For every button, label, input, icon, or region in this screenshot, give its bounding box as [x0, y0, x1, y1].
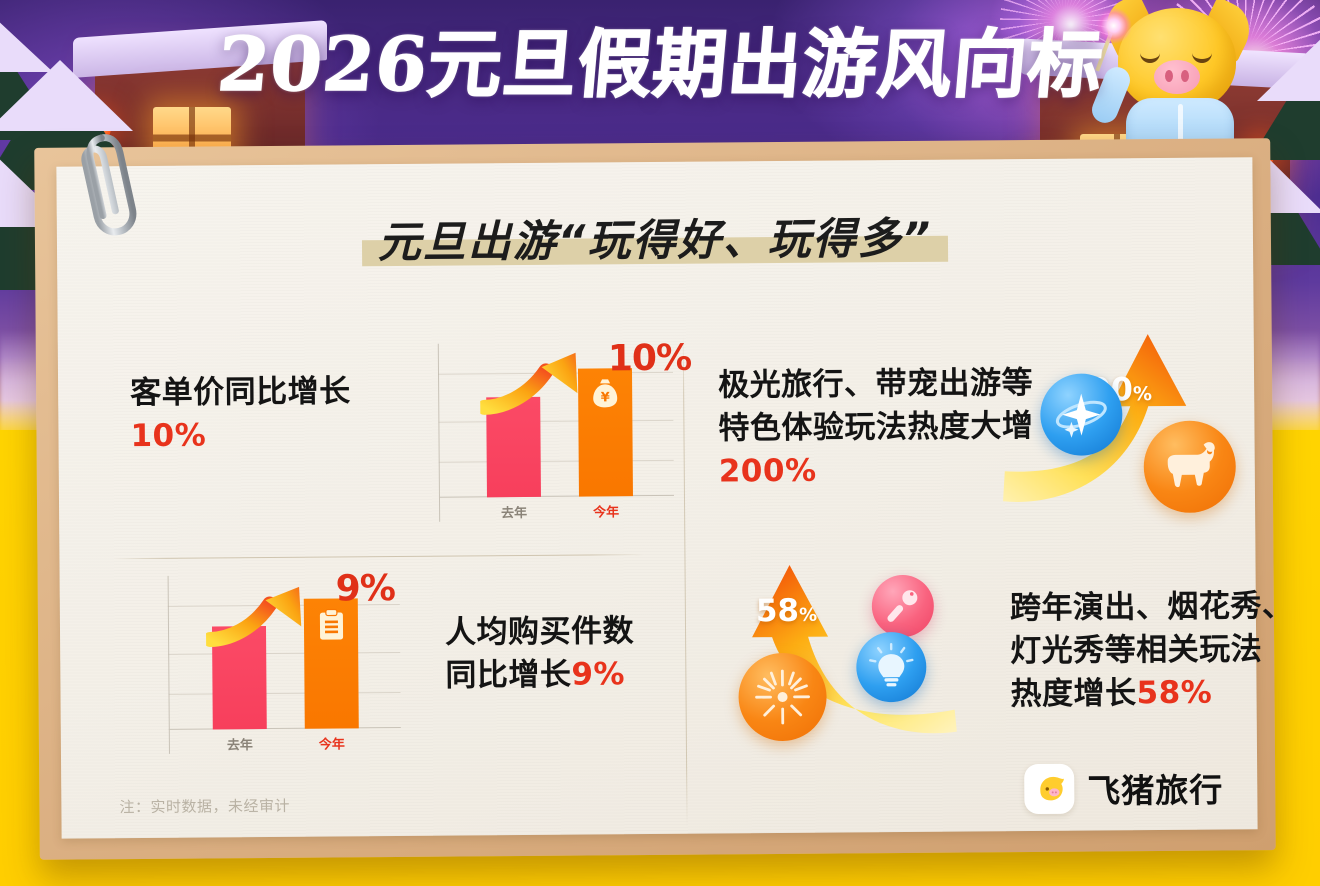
growth-arrow-icon	[480, 348, 601, 415]
microphone-bubble	[872, 575, 934, 637]
firework-bubble	[738, 653, 827, 742]
q3-text-line2: 同比增长9%	[445, 652, 705, 697]
chart-gridline	[168, 652, 400, 655]
q3-percentage-label: 9%	[336, 568, 395, 609]
brand-name: 飞猪旅行	[1087, 764, 1223, 813]
stat-block-special-experiences: 极光旅行、带宠出游等 特色体验玩法热度大增 200%	[708, 332, 1255, 546]
microphone-icon	[872, 575, 934, 637]
card-subtitle: 元旦出游“玩得好、玩得多”	[57, 201, 1253, 272]
brand-logo: 飞猪旅行	[1024, 763, 1223, 815]
lightbulb-bubble	[856, 632, 927, 703]
bar-label-last-year: 去年	[213, 734, 267, 753]
q4-text-line3: 热度增长58%	[1010, 670, 1300, 715]
dog-icon	[1143, 420, 1236, 513]
pig-snout-icon	[1154, 60, 1200, 94]
card-subtitle-text: 元旦出游“玩得好、玩得多”	[378, 214, 933, 268]
sparkler-icon	[1095, 33, 1112, 72]
dog-bubble	[1143, 420, 1236, 513]
fliggy-pig-logo	[1030, 770, 1068, 808]
growth-arrow-icon	[206, 583, 324, 648]
q4-text-line1: 跨年演出、烟花秀、	[1010, 585, 1300, 630]
bar-label-this-year: 今年	[579, 501, 633, 520]
stat-block-average-order-value: 客单价同比增长 10% ¥	[98, 342, 680, 552]
chart-x-axis	[439, 495, 674, 498]
bar-chart-items-per-customer: 9% 去年 今年	[168, 574, 401, 754]
q1-percentage-label: 10%	[608, 338, 691, 380]
chart-y-axis	[168, 576, 170, 754]
clipboard-card: 元旦出游“玩得好、玩得多” 客单价同比增长 10%	[34, 138, 1276, 860]
lightbulb-icon	[856, 632, 927, 703]
stat-block-nye-shows: 58%	[709, 557, 1256, 776]
fliggy-logo-icon	[1024, 764, 1074, 814]
chart-y-axis	[438, 344, 440, 522]
aurora-sparkle-bubble	[1040, 373, 1123, 456]
q1-text-line2: 10%	[130, 413, 430, 458]
chart-gridline	[439, 460, 674, 463]
chart-gridline	[438, 420, 673, 423]
vertical-divider	[683, 337, 688, 827]
chart-gridline	[169, 692, 401, 695]
chart-x-axis	[169, 727, 401, 730]
bar-chart-average-order-value: ¥ 10% 去年 今年	[438, 342, 674, 522]
bar-label-this-year: 今年	[305, 733, 359, 752]
q1-text-line1: 客单价同比增长	[130, 370, 430, 415]
aurora-sparkle-icon	[1040, 373, 1123, 456]
bar-label-last-year: 去年	[487, 502, 541, 521]
stat-block-items-per-customer: 9% 去年 今年 人均购买件数 同比增长9%	[100, 562, 682, 782]
firework-icon	[738, 653, 827, 742]
footnote: 注：实时数据，未经审计	[119, 795, 290, 817]
card-content: 元旦出游“玩得好、玩得多” 客单价同比增长 10%	[56, 157, 1257, 838]
q4-text-line2: 灯光秀等相关玩法	[1010, 628, 1300, 673]
horizontal-divider	[113, 554, 643, 559]
q3-text-line1: 人均购买件数	[445, 610, 705, 655]
paper-sheet: 元旦出游“玩得好、玩得多” 客单价同比增长 10%	[56, 157, 1257, 838]
svg-text:¥: ¥	[601, 390, 610, 405]
q4-arrow-percentage: 58%	[756, 593, 817, 629]
